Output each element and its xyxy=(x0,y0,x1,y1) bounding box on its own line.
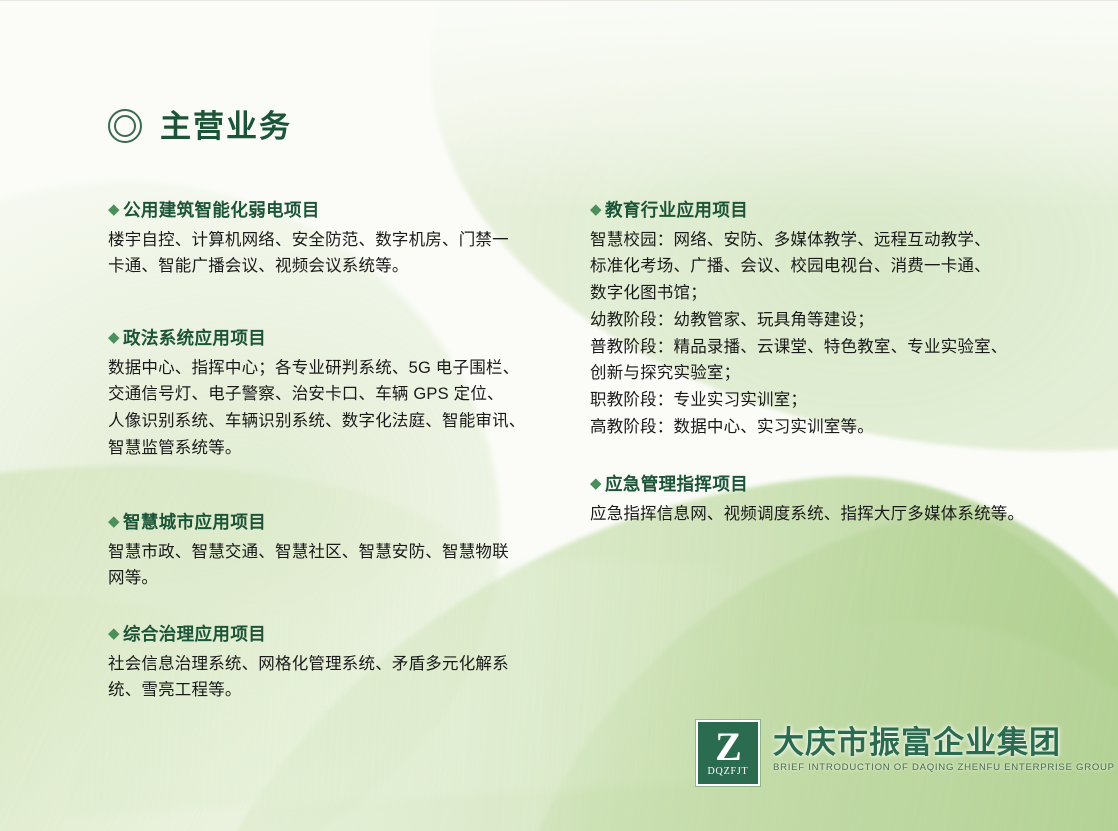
section-body-emergency-management: 应急指挥信息网、视频调度系统、指挥大厅多媒体系统等。 xyxy=(590,501,1050,528)
section-body-smart-city: 智慧市政、智慧交通、智慧社区、智慧安防、智慧物联 网等。 xyxy=(108,539,546,592)
diamond-bullet-icon: ◆ xyxy=(108,623,120,645)
section-title-education-industry: ◆ 教育行业应用项目 xyxy=(590,199,1042,223)
section-body-public-building: 楼宇自控、计算机网络、安全防范、数字机房、门禁一 卡通、智能广播会议、视频会议系… xyxy=(108,227,546,280)
body-line: 创新与探究实验室； xyxy=(590,360,1042,387)
section-comprehensive-governance: ◆ 综合治理应用项目 社会信息治理系统、网格化管理系统、矛盾多元化解系 统、雪亮… xyxy=(108,623,546,704)
diamond-bullet-icon: ◆ xyxy=(590,473,602,495)
logo-wordmark: 大庆市振富企业集团 BRIEF INTRODUCTION OF DAQING Z… xyxy=(773,720,1115,774)
section-education-industry: ◆ 教育行业应用项目 智慧校园：网络、安防、多媒体教学、远程互动教学、 标准化考… xyxy=(590,199,1042,440)
diamond-bullet-icon: ◆ xyxy=(108,511,120,533)
logo-letter-z: Z xyxy=(715,729,741,764)
body-line: 智慧监管系统等。 xyxy=(108,435,546,462)
body-line: 高教阶段：数据中心、实习实训室等。 xyxy=(590,414,1042,441)
body-line: 社会信息治理系统、网格化管理系统、矛盾多元化解系 xyxy=(108,651,546,678)
section-title-emergency-management: ◆ 应急管理指挥项目 xyxy=(590,473,1050,497)
section-body-comprehensive-governance: 社会信息治理系统、网格化管理系统、矛盾多元化解系 统、雪亮工程等。 xyxy=(108,651,546,704)
section-title-smart-city: ◆ 智慧城市应用项目 xyxy=(108,511,546,535)
section-legal-system: ◆ 政法系统应用项目 数据中心、指挥中心；各专业研判系统、5G 电子围栏、 交通… xyxy=(108,327,546,462)
section-title-label: 应急管理指挥项目 xyxy=(605,473,748,497)
section-title-public-building: ◆ 公用建筑智能化弱电项目 xyxy=(108,199,546,223)
body-line: 人像识别系统、车辆识别系统、数字化法庭、智能审讯、 xyxy=(108,408,546,435)
body-line: 应急指挥信息网、视频调度系统、指挥大厅多媒体系统等。 xyxy=(590,501,1050,528)
diamond-bullet-icon: ◆ xyxy=(590,199,602,221)
logo-abbreviation: DQZFJT xyxy=(708,767,749,777)
body-line: 幼教阶段：幼教管家、玩具角等建设； xyxy=(590,307,1042,334)
section-title-label: 教育行业应用项目 xyxy=(605,199,748,223)
section-smart-city: ◆ 智慧城市应用项目 智慧市政、智慧交通、智慧社区、智慧安防、智慧物联 网等。 xyxy=(108,511,546,592)
company-logo-lockup: Z DQZFJT 大庆市振富企业集团 BRIEF INTRODUCTION OF… xyxy=(696,720,1115,786)
double-circle-icon xyxy=(108,109,142,143)
body-line: 交通信号灯、电子警察、治安卡口、车辆 GPS 定位、 xyxy=(108,381,546,408)
body-line: 普教阶段：精品录播、云课堂、特色教室、专业实验室、 xyxy=(590,334,1042,361)
body-line: 标准化考场、广播、会议、校园电视台、消费一卡通、 xyxy=(590,253,1042,280)
diamond-bullet-icon: ◆ xyxy=(108,199,120,221)
section-title-label: 智慧城市应用项目 xyxy=(123,511,266,535)
company-name-chinese: 大庆市振富企业集团 xyxy=(773,726,1115,759)
section-title-legal-system: ◆ 政法系统应用项目 xyxy=(108,327,546,351)
section-public-building: ◆ 公用建筑智能化弱电项目 楼宇自控、计算机网络、安全防范、数字机房、门禁一 卡… xyxy=(108,199,546,280)
section-body-education-industry: 智慧校园：网络、安防、多媒体教学、远程互动教学、 标准化考场、广播、会议、校园电… xyxy=(590,227,1042,441)
brochure-page: 主营业务 ◆ 公用建筑智能化弱电项目 楼宇自控、计算机网络、安全防范、数字机房、… xyxy=(0,0,1118,831)
section-body-legal-system: 数据中心、指挥中心；各专业研判系统、5G 电子围栏、 交通信号灯、电子警察、治安… xyxy=(108,355,546,462)
logo-mark-icon: Z DQZFJT xyxy=(696,720,760,786)
body-line: 数字化图书馆； xyxy=(590,280,1042,307)
company-name-english: BRIEF INTRODUCTION OF DAQING ZHENFU ENTE… xyxy=(773,762,1115,774)
page-title-label: 主营业务 xyxy=(160,111,292,142)
body-line: 职教阶段：专业实习实训室； xyxy=(590,387,1042,414)
section-title-comprehensive-governance: ◆ 综合治理应用项目 xyxy=(108,623,546,647)
body-line: 智慧市政、智慧交通、智慧社区、智慧安防、智慧物联 xyxy=(108,539,546,566)
body-line: 卡通、智能广播会议、视频会议系统等。 xyxy=(108,253,546,280)
body-line: 网等。 xyxy=(108,565,546,592)
section-title-label: 综合治理应用项目 xyxy=(123,623,266,647)
body-line: 数据中心、指挥中心；各专业研判系统、5G 电子围栏、 xyxy=(108,355,546,382)
body-line: 统、雪亮工程等。 xyxy=(108,677,546,704)
section-title-label: 公用建筑智能化弱电项目 xyxy=(123,199,320,223)
page-title: 主营业务 xyxy=(108,109,292,143)
diamond-bullet-icon: ◆ xyxy=(108,327,120,349)
section-title-label: 政法系统应用项目 xyxy=(123,327,266,351)
body-line: 楼宇自控、计算机网络、安全防范、数字机房、门禁一 xyxy=(108,227,546,254)
body-line: 智慧校园：网络、安防、多媒体教学、远程互动教学、 xyxy=(590,227,1042,254)
section-emergency-management: ◆ 应急管理指挥项目 应急指挥信息网、视频调度系统、指挥大厅多媒体系统等。 xyxy=(590,473,1050,527)
